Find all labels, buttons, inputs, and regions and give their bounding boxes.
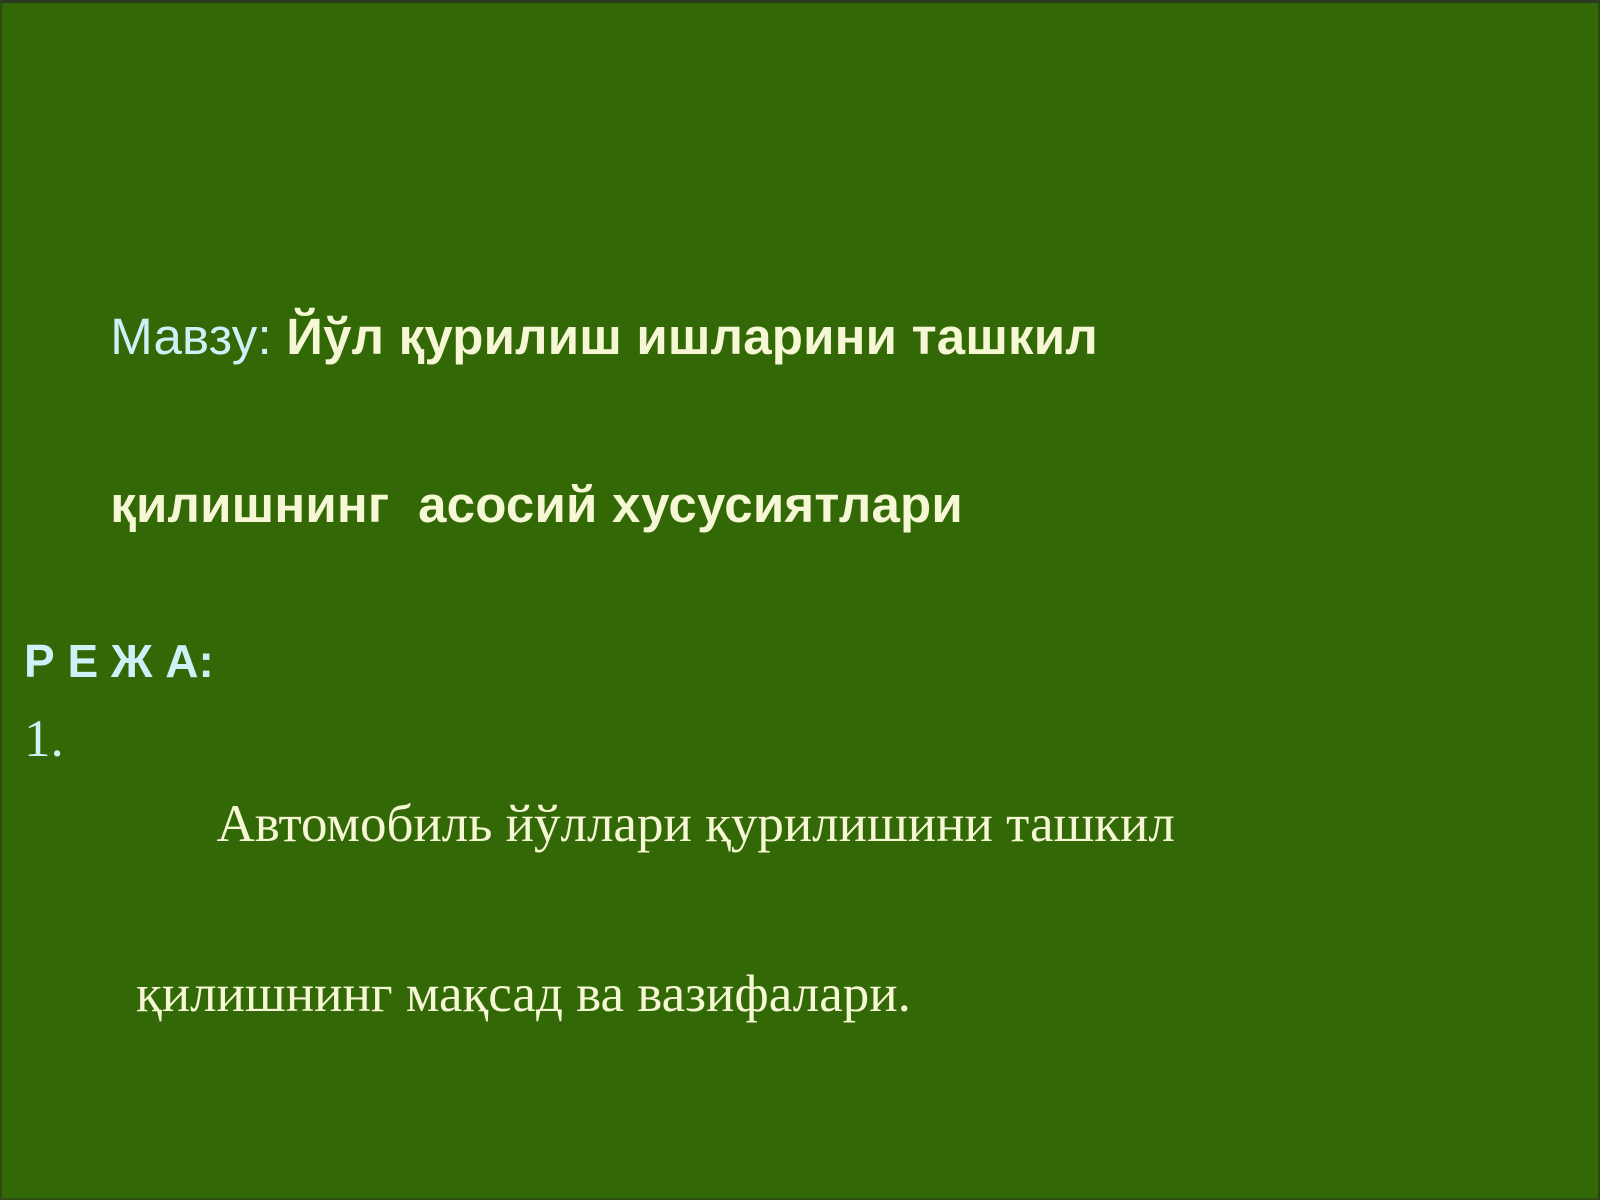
topic-title-line-2: қилишнинг асосий хусусиятлари xyxy=(110,476,963,533)
list-item-line-1: Автомобиль йўллари қурилишини ташкил xyxy=(217,795,1175,853)
list-item-line-2: қилишнинг мақсад ва вазифалари. xyxy=(84,952,1514,1037)
slide-title: Мавзу: Йўл қурилиш ишларини ташкил қилиш… xyxy=(24,211,1580,631)
topic-label: Мавзу: xyxy=(110,308,286,365)
topic-title-line-1: Йўл қурилиш ишларини ташкил xyxy=(286,308,1098,365)
presentation-slide: Мавзу: Йўл қурилиш ишларини ташкил қилиш… xyxy=(0,0,1600,1200)
list-item-text: Автомобиль йўллари қурилишини ташкил қил… xyxy=(84,697,1514,1200)
list-item-number: 1. xyxy=(24,697,84,782)
slide-content: Мавзу: Йўл қурилиш ишларини ташкил қилиш… xyxy=(24,211,1580,1200)
list-item: 1. Автомобиль йўллари қурилишини ташкил … xyxy=(24,697,1580,1200)
plan-heading: Р Е Ж А: xyxy=(24,625,1580,697)
plan-list: 1. Автомобиль йўллари қурилишини ташкил … xyxy=(24,697,1580,1200)
